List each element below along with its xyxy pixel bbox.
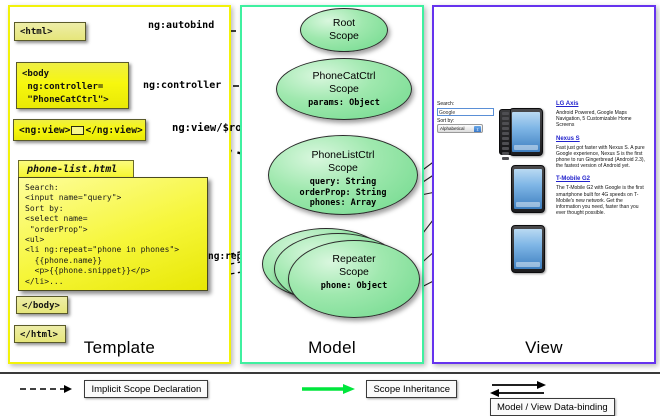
note-code: Search: <input name="query"> Sort by: <s…: [18, 177, 208, 291]
phone-device-body: [509, 108, 543, 156]
phone-thumbnail-0: [509, 108, 543, 156]
phone-snippet: The T-Mobile G2 with Google is the first…: [556, 185, 648, 216]
dashed-arrow-icon: [18, 383, 74, 395]
code-tag-body: <body ng:controller= "PhoneCatCtrl">: [16, 62, 129, 109]
list-item: T-Mobile G2 The T-Mobile G2 with Google …: [556, 175, 648, 216]
sort-select-value: Alphabetical: [440, 126, 465, 131]
note-title: phone-list.html: [19, 161, 133, 175]
ngview-close-tag: </ng:view>: [85, 125, 142, 136]
scope-repeater: Repeater Scope phone: Object: [288, 240, 420, 318]
legend: Implicit Scope Declaration Scope Inherit…: [0, 372, 660, 407]
list-item: Nexus S Fast just got faster with Nexus …: [556, 135, 648, 170]
phone-screen: [514, 229, 542, 269]
code-tag-body-close: </body>: [16, 296, 68, 314]
sort-select[interactable]: Alphabetical ⇳: [437, 124, 483, 133]
scope-phonecatctrl-members: params: Object: [277, 98, 411, 109]
phone-device-body: [511, 165, 545, 213]
legend-label: Model / View Data-binding: [490, 398, 615, 416]
scope-repeater-members: phone: Object: [289, 281, 419, 292]
scope-phonelistctrl: PhoneListCtrl Scope query: String orderP…: [268, 135, 418, 215]
scope-phonelistctrl-title: PhoneListCtrl Scope: [269, 149, 417, 174]
ngview-open-tag: <ng:view>: [19, 125, 70, 136]
panel-model-label: Model: [242, 338, 422, 358]
search-form: Search: Google Sort by: Alphabetical ⇳: [437, 101, 497, 133]
green-arrow-icon: [300, 383, 356, 395]
code-tag-html-close: </html>: [14, 325, 66, 343]
search-input[interactable]: Google: [437, 108, 494, 116]
scope-repeater-title: Repeater Scope: [289, 253, 419, 278]
legend-item-data-binding: Model / View Data-binding: [490, 380, 660, 398]
phone-link[interactable]: LG Axis: [556, 100, 648, 108]
code-tag-html: <html>: [14, 22, 86, 41]
phone-screen: [512, 112, 540, 152]
phone-link[interactable]: Nexus S: [556, 135, 648, 143]
phone-snippet: Android Powered, Google Maps Navigation,…: [556, 110, 648, 129]
label-ng-autobind: ng:autobind: [148, 20, 214, 31]
legend-label: Scope Inheritance: [366, 380, 457, 398]
code-tag-ngview: <ng:view></ng:view>: [13, 119, 146, 141]
phone-thumbnail-2: [511, 225, 545, 273]
phone-screen: [514, 169, 542, 209]
phone-list-note: phone-list.html Search: <input name="que…: [18, 160, 208, 291]
scope-phonecatctrl-title: PhoneCatCtrl Scope: [277, 70, 411, 95]
search-label: Search:: [437, 101, 497, 107]
phone-link[interactable]: T-Mobile G2: [556, 175, 648, 183]
chevron-down-icon: ⇳: [474, 126, 481, 133]
label-ng-controller: ng:controller: [143, 80, 221, 91]
phone-device-body: [511, 225, 545, 273]
legend-item-scope-inheritance: Scope Inheritance: [300, 380, 457, 398]
scope-phonecatctrl: PhoneCatCtrl Scope params: Object: [276, 58, 412, 120]
phone-keyboard-icon: [499, 109, 511, 155]
legend-label: Implicit Scope Declaration: [84, 380, 208, 398]
double-arrow-icon: [490, 381, 546, 397]
scope-root-title: Root Scope: [301, 17, 387, 42]
phone-list: LG Axis Android Powered, Google Maps Nav…: [556, 100, 648, 222]
note-tab: phone-list.html: [18, 160, 134, 178]
list-item: LG Axis Android Powered, Google Maps Nav…: [556, 100, 648, 129]
phone-snippet: Fast just got faster with Nexus S. A pur…: [556, 145, 648, 170]
scope-root: Root Scope: [300, 8, 388, 52]
panel-view-label: View: [434, 338, 654, 358]
ngview-slot-icon: [71, 126, 84, 135]
scope-repeater-stack: Repeater Scope phone: Object: [262, 228, 422, 320]
phone-thumbnail-1: [511, 165, 545, 213]
legend-item-implicit-scope: Implicit Scope Declaration: [18, 380, 208, 398]
scope-phonelistctrl-members: query: String orderProp: String phones: …: [269, 177, 417, 209]
